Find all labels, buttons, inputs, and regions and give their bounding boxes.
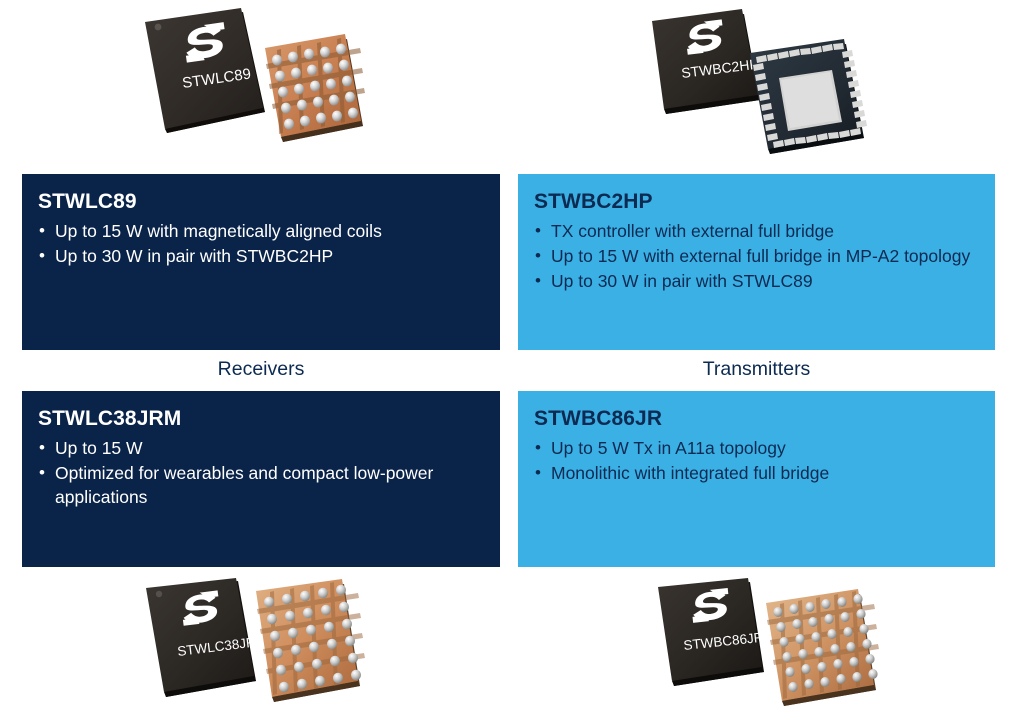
list-item: Up to 30 W in pair with STWLC89 xyxy=(534,270,975,294)
list-item: TX controller with external full bridge xyxy=(534,220,975,244)
chip-body-dark: STWBC86JR xyxy=(658,578,764,686)
panel-stwlc38jrm: STWLC38JRM Up to 15 W Optimized for wear… xyxy=(22,391,500,567)
panel-stwbc86jr: STWBC86JR Up to 5 W Tx in A11a topology … xyxy=(518,391,995,567)
feature-list-stwbc2hp: TX controller with external full bridge … xyxy=(534,220,975,293)
section-caption-transmitters: Transmitters xyxy=(518,360,995,380)
panel-title-stwlc38jrm: STWLC38JRM xyxy=(38,407,480,430)
feature-list-stwlc38jrm: Up to 15 W Optimized for wearables and c… xyxy=(38,437,480,509)
chip-photo-stwbc86jr: STWBC86JR xyxy=(638,578,888,713)
list-item: Up to 5 W Tx in A11a topology xyxy=(534,437,975,461)
panel-stwbc2hp: STWBC2HP TX controller with external ful… xyxy=(518,174,995,350)
section-caption-receivers: Receivers xyxy=(22,360,500,380)
chip-photo-stwlc89: STWLC89 xyxy=(125,8,390,168)
list-item: Up to 15 W with magnetically aligned coi… xyxy=(38,220,480,244)
chip-body-bga xyxy=(256,579,365,702)
list-item: Up to 30 W in pair with STWBC2HP xyxy=(38,245,480,269)
chip-body-dark: STWLC89 xyxy=(145,8,265,133)
chip-body-bga xyxy=(766,589,879,706)
panel-title-stwbc86jr: STWBC86JR xyxy=(534,407,975,430)
list-item: Up to 15 W xyxy=(38,437,480,461)
chip-body-dark: STWBC2HP xyxy=(652,9,760,114)
chip-photo-stwlc38jrm: STWLC38JRM xyxy=(128,578,378,713)
list-item: Up to 15 W with external full bridge in … xyxy=(534,245,975,269)
chip-body-qfn-bottom xyxy=(750,39,867,154)
list-item: Optimized for wearables and compact low-… xyxy=(38,462,480,510)
feature-list-stwbc86jr: Up to 5 W Tx in A11a topology Monolithic… xyxy=(534,437,975,486)
feature-list-stwlc89: Up to 15 W with magnetically aligned coi… xyxy=(38,220,480,269)
chip-body-dark: STWLC38JRM xyxy=(146,578,268,697)
list-item: Monolithic with integrated full bridge xyxy=(534,462,975,486)
chip-photo-stwbc2hp: STWBC2HP xyxy=(636,8,881,168)
panel-stwlc89: STWLC89 Up to 15 W with magnetically ali… xyxy=(22,174,500,350)
panel-title-stwlc89: STWLC89 xyxy=(38,190,480,213)
panel-title-stwbc2hp: STWBC2HP xyxy=(534,190,975,213)
chip-body-bga xyxy=(265,34,365,142)
